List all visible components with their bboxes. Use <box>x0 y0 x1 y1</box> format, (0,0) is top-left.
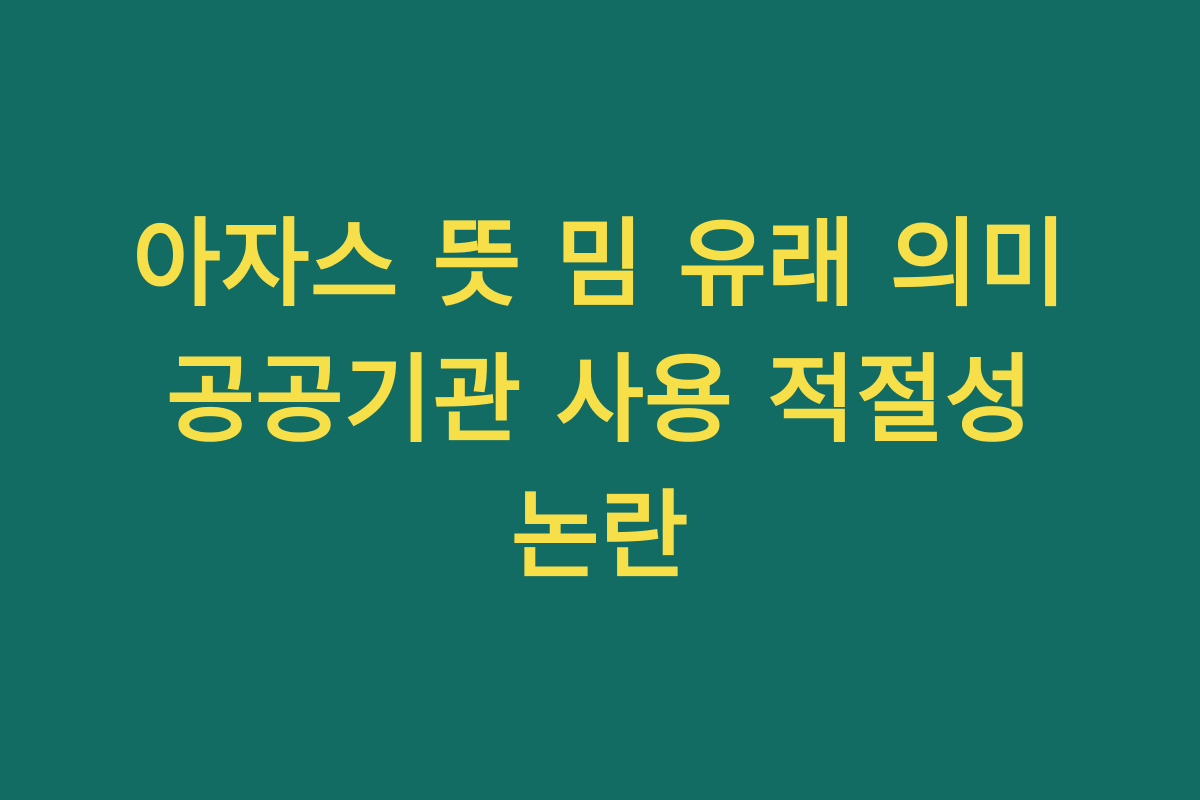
thumbnail-card: 아자스 뜻 밈 유래 의미 공공기관 사용 적절성 논란 <box>0 0 1200 800</box>
headline-block: 아자스 뜻 밈 유래 의미 공공기관 사용 적절성 논란 <box>70 196 1130 605</box>
page-title: 아자스 뜻 밈 유래 의미 공공기관 사용 적절성 논란 <box>80 196 1120 605</box>
